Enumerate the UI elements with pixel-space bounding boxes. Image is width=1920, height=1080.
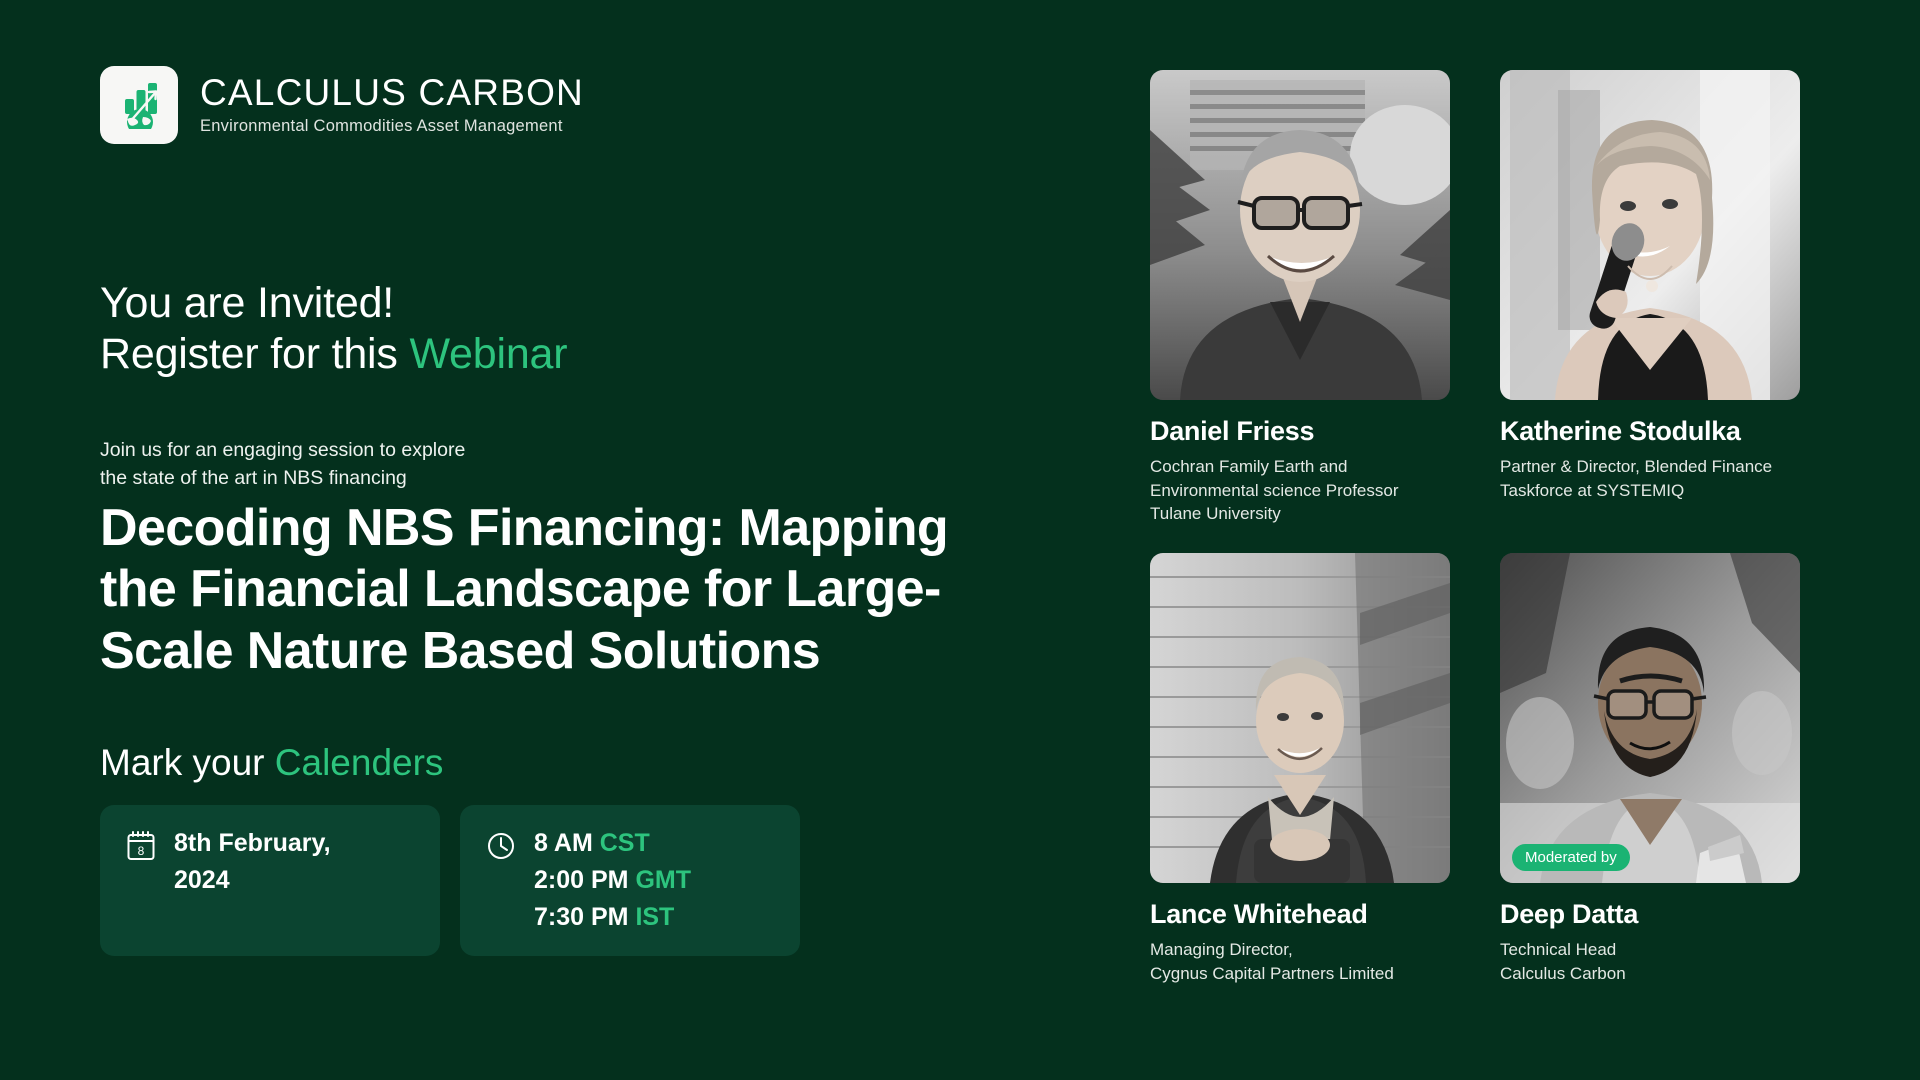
calendar-icon-day: 8	[138, 844, 145, 858]
globe-bar-chart-growth-icon	[113, 77, 165, 134]
time-row-gmt: 2:00 PM GMT	[534, 864, 691, 897]
page-title: Decoding NBS Financing: Mapping the Fina…	[100, 498, 1020, 682]
speaker-name: Deep Datta	[1500, 899, 1800, 930]
event-info-cards: 8 8th February, 2024 8 AM CST 2:00 PM GM…	[100, 805, 800, 956]
logo-mark	[100, 66, 178, 144]
invite-heading: You are Invited! Register for this Webin…	[100, 278, 567, 379]
speaker-role: Partner & Director, Blended Finance Task…	[1500, 455, 1800, 502]
speakers-grid: Daniel Friess Cochran Family Earth and E…	[1150, 70, 1810, 985]
speaker-role-line: Partner & Director, Blended Finance	[1500, 455, 1800, 478]
brand-name: CALCULUS CARBON	[200, 74, 584, 113]
invite-line-1: You are Invited!	[100, 278, 567, 329]
invite-line-2: Register for this Webinar	[100, 329, 567, 380]
speaker-card: Daniel Friess Cochran Family Earth and E…	[1150, 70, 1450, 525]
calendar-icon: 8	[126, 830, 156, 867]
intro-text: Join us for an engaging session to explo…	[100, 437, 465, 492]
status-badge: Moderated by	[1512, 844, 1630, 871]
left-content-column: CALCULUS CARBON Environmental Commoditie…	[100, 0, 1100, 1080]
time-row-ist: 7:30 PM IST	[534, 901, 691, 934]
speaker-name: Lance Whitehead	[1150, 899, 1450, 930]
speaker-role-line: Cochran Family Earth and	[1150, 455, 1450, 478]
date-card: 8 8th February, 2024	[100, 805, 440, 956]
speaker-role: Technical Head Calculus Carbon	[1500, 938, 1800, 985]
calendar-heading: Mark your Calenders	[100, 742, 443, 784]
portrait-woman-microphone-bw	[1500, 70, 1800, 400]
invite-line-2-prefix: Register for this	[100, 330, 409, 378]
time-value-cst: 8 AM	[534, 829, 600, 857]
calendar-heading-prefix: Mark your	[100, 742, 275, 783]
speaker-role-line: Environmental science Professor	[1150, 479, 1450, 502]
speaker-role-line: Calculus Carbon	[1500, 962, 1800, 985]
timezone-ist: IST	[635, 903, 674, 931]
speaker-card: Lance Whitehead Managing Director, Cygnu…	[1150, 553, 1450, 985]
speaker-role-line: Managing Director,	[1150, 938, 1450, 961]
clock-icon	[486, 830, 516, 867]
timezone-gmt: GMT	[635, 866, 691, 894]
date-line-1: 8th February,	[174, 827, 331, 860]
invite-line-2-accent: Webinar	[409, 330, 567, 378]
speaker-role-line: Technical Head	[1500, 938, 1800, 961]
portrait-man-glasses-smiling-bw	[1150, 70, 1450, 400]
intro-line-1: Join us for an engaging session to explo…	[100, 437, 465, 465]
brand-tagline: Environmental Commodities Asset Manageme…	[200, 117, 584, 136]
speaker-name: Katherine Stodulka	[1500, 416, 1800, 447]
brand-logo: CALCULUS CARBON Environmental Commoditie…	[100, 66, 584, 144]
date-line-2: 2024	[174, 864, 331, 897]
time-value-ist: 7:30 PM	[534, 903, 635, 931]
intro-line-2: the state of the art in NBS financing	[100, 465, 465, 493]
time-card: 8 AM CST 2:00 PM GMT 7:30 PM IST	[460, 805, 800, 956]
time-value-gmt: 2:00 PM	[534, 866, 635, 894]
speaker-card: Katherine Stodulka Partner & Director, B…	[1500, 70, 1800, 525]
speaker-card: Moderated by Deep Datta Technical Head C…	[1500, 553, 1800, 985]
speaker-role: Managing Director, Cygnus Capital Partne…	[1150, 938, 1450, 985]
speaker-role: Cochran Family Earth and Environmental s…	[1150, 455, 1450, 525]
timezone-cst: CST	[600, 829, 650, 857]
speaker-role-line: Tulane University	[1150, 502, 1450, 525]
portrait-man-beard-glasses-bw: Moderated by	[1500, 553, 1800, 883]
time-row-cst: 8 AM CST	[534, 827, 691, 860]
speaker-role-line: Taskforce at SYSTEMIQ	[1500, 479, 1800, 502]
portrait-man-seated-jacket-bw	[1150, 553, 1450, 883]
speaker-name: Daniel Friess	[1150, 416, 1450, 447]
speaker-role-line: Cygnus Capital Partners Limited	[1150, 962, 1450, 985]
calendar-heading-accent: Calenders	[275, 742, 444, 783]
